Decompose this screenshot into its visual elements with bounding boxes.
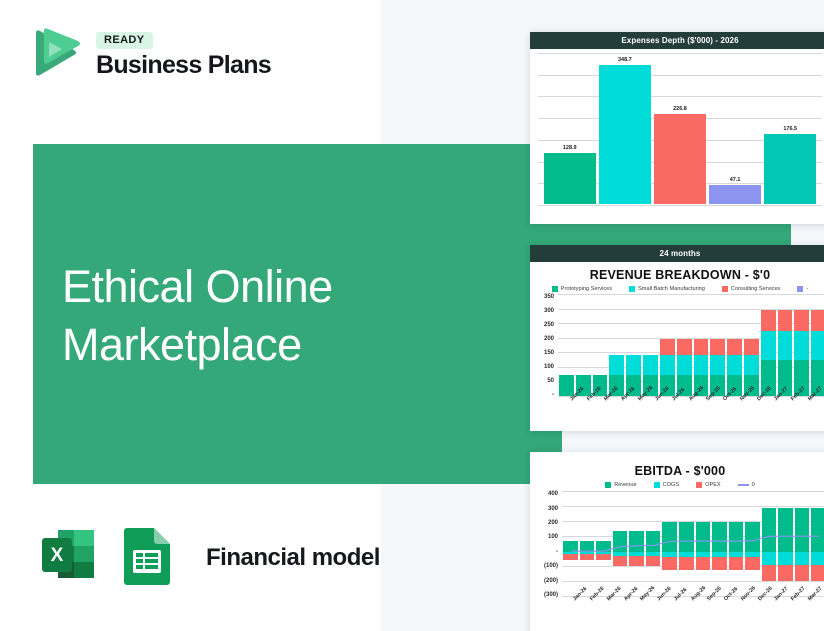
stacked-bar-column bbox=[660, 294, 675, 396]
y-axis-tick-label: 100 bbox=[544, 364, 554, 370]
y-axis-tick-label: (200) bbox=[544, 578, 558, 584]
legend-item: Prototyping Services bbox=[552, 286, 612, 292]
y-axis-tick-label: - bbox=[556, 549, 558, 555]
ebitda-legend: RevenueCOGSOPEX0 bbox=[530, 480, 824, 489]
svg-text:X: X bbox=[51, 545, 64, 566]
stacked-bar-segment bbox=[727, 339, 742, 356]
legend-item: Consulting Services bbox=[722, 286, 780, 292]
stacked-bar-column bbox=[778, 294, 793, 396]
y-axis-tick-label: (100) bbox=[544, 563, 558, 569]
ebitda-drawing-area bbox=[562, 491, 824, 596]
bar-value-label: 226.8 bbox=[673, 106, 687, 112]
stacked-bar-segment bbox=[660, 339, 675, 356]
stacked-bar-segment bbox=[609, 355, 624, 375]
bar-value-label: 348.7 bbox=[618, 57, 632, 63]
stacked-bar-segment bbox=[744, 355, 759, 375]
ebitda-y-axis: 400300200100-(100)(200)(300) bbox=[532, 491, 560, 596]
legend-label: COGS bbox=[663, 482, 679, 488]
ebitda-plot-area: 400300200100-(100)(200)(300) bbox=[532, 491, 824, 596]
google-sheets-icon bbox=[118, 524, 176, 591]
revenue-y-axis: 35030025020015010050- bbox=[532, 294, 556, 396]
bar-column: 176.5 bbox=[764, 53, 816, 204]
stacked-bar-segment bbox=[643, 355, 658, 375]
legend-item: 0 bbox=[738, 482, 755, 488]
revenue-plot-area: 35030025020015010050- bbox=[532, 294, 824, 396]
y-axis-tick-label: 300 bbox=[548, 506, 558, 512]
legend-label: Prototyping Services bbox=[561, 286, 612, 292]
stacked-bar-segment bbox=[710, 355, 725, 375]
legend-label: Small Batch Manufacturing bbox=[638, 286, 705, 292]
play-triangle-logo-icon bbox=[28, 27, 82, 79]
ebitda-x-axis: Jan-26Feb-26Mar-26Apr-26May-26Jun-26Jul-… bbox=[562, 596, 824, 624]
stacked-bar-segment bbox=[660, 355, 675, 375]
stacked-bar-segment bbox=[626, 355, 641, 375]
legend-color-swatch bbox=[797, 286, 803, 292]
stacked-bar-column bbox=[811, 294, 824, 396]
stacked-bar-segment bbox=[794, 310, 809, 330]
bar bbox=[764, 134, 816, 204]
legend-line-swatch bbox=[738, 484, 749, 486]
y-axis-tick-label: 150 bbox=[544, 350, 554, 356]
bar bbox=[709, 185, 761, 204]
brand-header: READY Business Plans bbox=[28, 27, 271, 79]
page-title: Ethical Online Marketplace bbox=[62, 258, 532, 373]
ready-badge: READY bbox=[96, 32, 153, 49]
stacked-bar-segment bbox=[694, 339, 709, 356]
stacked-bar-segment bbox=[727, 355, 742, 375]
revenue-band-label: 24 months bbox=[530, 245, 824, 262]
microsoft-excel-icon: X bbox=[38, 524, 100, 591]
legend-label: Consulting Services bbox=[731, 286, 780, 292]
legend-color-swatch bbox=[696, 482, 702, 488]
stacked-bar-column bbox=[761, 294, 776, 396]
stacked-bar-segment bbox=[794, 331, 809, 360]
bar-column: 47.1 bbox=[709, 53, 761, 204]
y-axis-tick-label: 200 bbox=[544, 336, 554, 342]
brand-title: Business Plans bbox=[96, 52, 271, 78]
gridline bbox=[538, 205, 822, 206]
expenses-bar-series: 128.9348.7226.847.1176.5 bbox=[544, 53, 817, 204]
bar bbox=[654, 114, 706, 204]
stacked-bar-segment bbox=[778, 331, 793, 360]
legend-color-swatch bbox=[605, 482, 611, 488]
legend-item: Small Batch Manufacturing bbox=[629, 286, 705, 292]
bar-value-label: 128.9 bbox=[563, 145, 577, 151]
y-axis-tick-label: 350 bbox=[544, 294, 554, 300]
y-axis-tick-label: 300 bbox=[544, 308, 554, 314]
y-axis-tick-label: 250 bbox=[544, 322, 554, 328]
revenue-bar-series bbox=[559, 294, 824, 396]
y-axis-tick-label: 100 bbox=[548, 534, 558, 540]
stacked-bar-column bbox=[576, 294, 591, 396]
legend-label: Revenue bbox=[614, 482, 636, 488]
y-axis-tick-label: - bbox=[552, 392, 554, 398]
bar-column: 128.9 bbox=[544, 53, 596, 204]
stacked-bar-segment bbox=[694, 355, 709, 375]
stacked-bar-column bbox=[593, 294, 608, 396]
y-axis-tick-label: (300) bbox=[544, 592, 558, 598]
y-axis-tick-label: 50 bbox=[547, 378, 554, 384]
revenue-chart-title: REVENUE BREAKDOWN - $'0 bbox=[530, 262, 824, 284]
stacked-bar-segment bbox=[677, 339, 692, 356]
stacked-bar-column bbox=[694, 294, 709, 396]
stacked-bar-segment bbox=[761, 310, 776, 330]
bar bbox=[599, 65, 651, 204]
stacked-bar-segment bbox=[710, 339, 725, 356]
y-axis-tick-label: 200 bbox=[548, 520, 558, 526]
bar-value-label: 176.5 bbox=[783, 126, 797, 132]
expenses-chart-title: Expenses Depth ($'000) - 2026 bbox=[530, 32, 824, 49]
legend-item: Revenue bbox=[605, 482, 636, 488]
bar-value-label: 47.1 bbox=[730, 177, 741, 183]
stacked-bar-segment bbox=[761, 331, 776, 360]
legend-item: - bbox=[797, 286, 808, 292]
footer-label: Financial model bbox=[206, 544, 380, 572]
stacked-bar-column bbox=[677, 294, 692, 396]
revenue-drawing-area bbox=[558, 294, 824, 396]
ebitda-chart-title: EBITDA - $'000 bbox=[530, 452, 824, 480]
stacked-bar-segment bbox=[778, 310, 793, 330]
stacked-bar-column bbox=[609, 294, 624, 396]
legend-label: - bbox=[806, 286, 808, 292]
stacked-bar-column bbox=[794, 294, 809, 396]
stacked-bar-segment bbox=[559, 375, 574, 396]
bar bbox=[544, 153, 596, 204]
legend-item: COGS bbox=[654, 482, 679, 488]
chart-card-revenue[interactable]: 24 months REVENUE BREAKDOWN - $'0 Protot… bbox=[530, 245, 824, 431]
chart-card-expenses[interactable]: Expenses Depth ($'000) - 2026 128.9348.7… bbox=[530, 32, 824, 224]
legend-color-swatch bbox=[722, 286, 728, 292]
legend-label: 0 bbox=[752, 482, 755, 488]
ebitda-zero-line-series bbox=[563, 491, 824, 596]
slide-canvas: READY Business Plans Ethical Online Mark… bbox=[0, 0, 824, 631]
legend-color-swatch bbox=[552, 286, 558, 292]
stacked-bar-segment bbox=[677, 355, 692, 375]
stacked-bar-column bbox=[626, 294, 641, 396]
y-axis-tick-label: 400 bbox=[548, 491, 558, 497]
revenue-x-axis: Jan-26Feb-26Mar-26Apr-26May-26Jun-26Jul-… bbox=[558, 396, 824, 424]
stacked-bar-segment bbox=[744, 339, 759, 356]
stacked-bar-segment bbox=[811, 331, 824, 360]
legend-item: OPEX bbox=[696, 482, 721, 488]
legend-color-swatch bbox=[654, 482, 660, 488]
stacked-bar-column bbox=[710, 294, 725, 396]
brand-text-group: READY Business Plans bbox=[96, 28, 271, 78]
legend-label: OPEX bbox=[705, 482, 721, 488]
footer-group: X Financial model bbox=[38, 524, 380, 591]
chart-card-ebitda[interactable]: EBITDA - $'000 RevenueCOGSOPEX0 40030020… bbox=[530, 452, 824, 631]
stacked-bar-column bbox=[559, 294, 574, 396]
legend-color-swatch bbox=[629, 286, 635, 292]
expenses-plot-area: 128.9348.7226.847.1176.5 bbox=[538, 53, 822, 205]
stacked-bar-column bbox=[643, 294, 658, 396]
revenue-legend: Prototyping ServicesSmall Batch Manufact… bbox=[530, 284, 824, 293]
bar-column: 226.8 bbox=[654, 53, 706, 204]
stacked-bar-segment bbox=[811, 310, 824, 330]
stacked-bar-column bbox=[744, 294, 759, 396]
bar-column: 348.7 bbox=[599, 53, 651, 204]
stacked-bar-column bbox=[727, 294, 742, 396]
